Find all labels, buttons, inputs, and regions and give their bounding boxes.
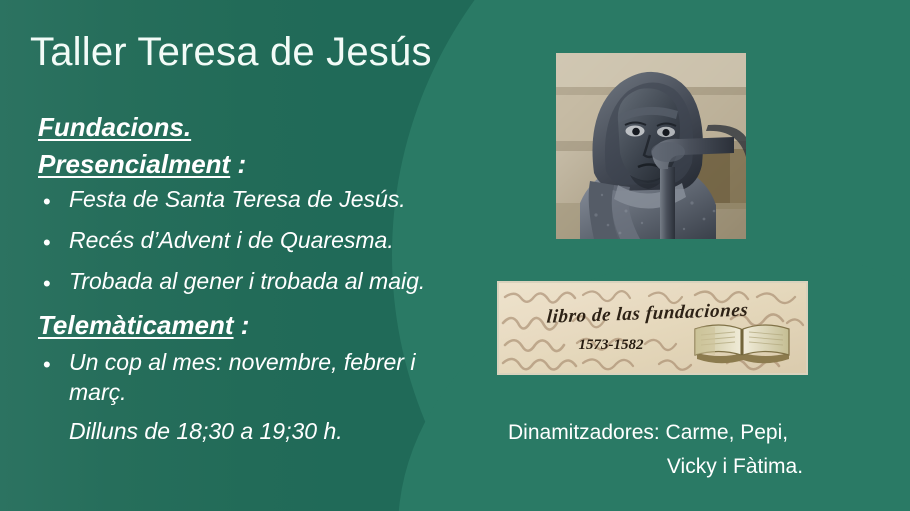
section-heading-fundacions-label: Fundacions. — [38, 112, 191, 142]
bullet-marker-icon: • — [38, 348, 69, 382]
facilitators-caption: Dinamitzadores: Carme, Pepi, Vicky i Fàt… — [500, 416, 890, 484]
list-item-label: Festa de Santa Teresa de Jesús. — [69, 185, 406, 215]
subheading-presencialment: Presencialment : — [38, 149, 488, 180]
section-heading-fundacions: Fundacions. — [38, 112, 488, 143]
subheading-presencialment-colon: : — [230, 149, 246, 179]
list-item-label: Recés d’Advent i de Quaresma. — [69, 226, 394, 256]
list-item-label: Un cop al mes: novembre, febrer i març. — [69, 348, 447, 408]
page-title: Taller Teresa de Jesús — [30, 30, 432, 75]
subheading-telematicament: Telemàticament : — [38, 310, 488, 341]
list-item-label: Trobada al gener i trobada al maig. — [69, 267, 425, 297]
list-item: • Festa de Santa Teresa de Jesús. — [38, 185, 488, 219]
list-item: • Trobada al gener i trobada al maig. — [38, 267, 488, 301]
facilitators-caption-line-2: Vicky i Fàtima. — [500, 450, 890, 484]
subheading-presencialment-label: Presencialment — [38, 149, 230, 179]
bullet-marker-icon: • — [38, 267, 69, 301]
list-item: • Un cop al mes: novembre, febrer i març… — [38, 348, 488, 408]
bullet-marker-icon: • — [38, 185, 69, 219]
manuscript-banner-image: libro de las fundaciones 1573-1582 — [497, 281, 808, 375]
body-text-block: Fundacions. Presencialment : • Festa de … — [38, 112, 488, 447]
bullet-marker-icon: • — [38, 226, 69, 260]
facilitators-caption-line-1: Dinamitzadores: Carme, Pepi, — [500, 416, 890, 450]
statue-photo — [556, 53, 746, 239]
subheading-telematicament-label: Telemàticament — [38, 310, 234, 340]
list-item: • Recés d’Advent i de Quaresma. — [38, 226, 488, 260]
subheading-telematicament-colon: : — [234, 310, 250, 340]
slide-canvas: Taller Teresa de Jesús Fundacions. Prese… — [0, 0, 910, 511]
schedule-line: Dilluns de 18;30 a 19;30 h. — [69, 410, 488, 447]
